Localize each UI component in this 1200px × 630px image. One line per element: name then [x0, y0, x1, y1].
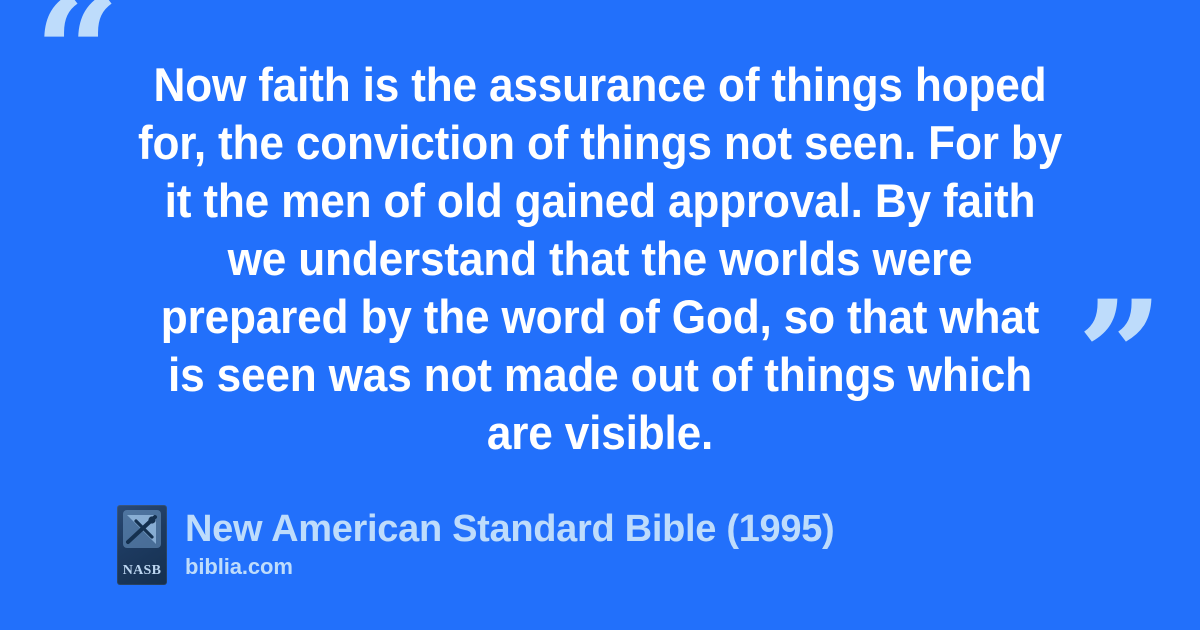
- bible-version-title: New American Standard Bible (1995): [185, 507, 834, 551]
- site-url-label[interactable]: biblia.com: [185, 553, 834, 581]
- open-quote-icon: “: [34, 0, 116, 128]
- quote-card: “ Now faith is the assurance of things h…: [0, 0, 1200, 460]
- attribution-block: NASB New American Standard Bible (1995) …: [117, 505, 834, 585]
- nasb-cross-mark-icon: [122, 509, 162, 553]
- nasb-logo: NASB: [117, 505, 167, 585]
- nasb-logo-label: NASB: [117, 563, 167, 579]
- close-quote-icon: ”: [1077, 281, 1159, 431]
- attribution-text: New American Standard Bible (1995) bibli…: [185, 505, 834, 581]
- quote-text: Now faith is the assurance of things hop…: [138, 56, 1063, 462]
